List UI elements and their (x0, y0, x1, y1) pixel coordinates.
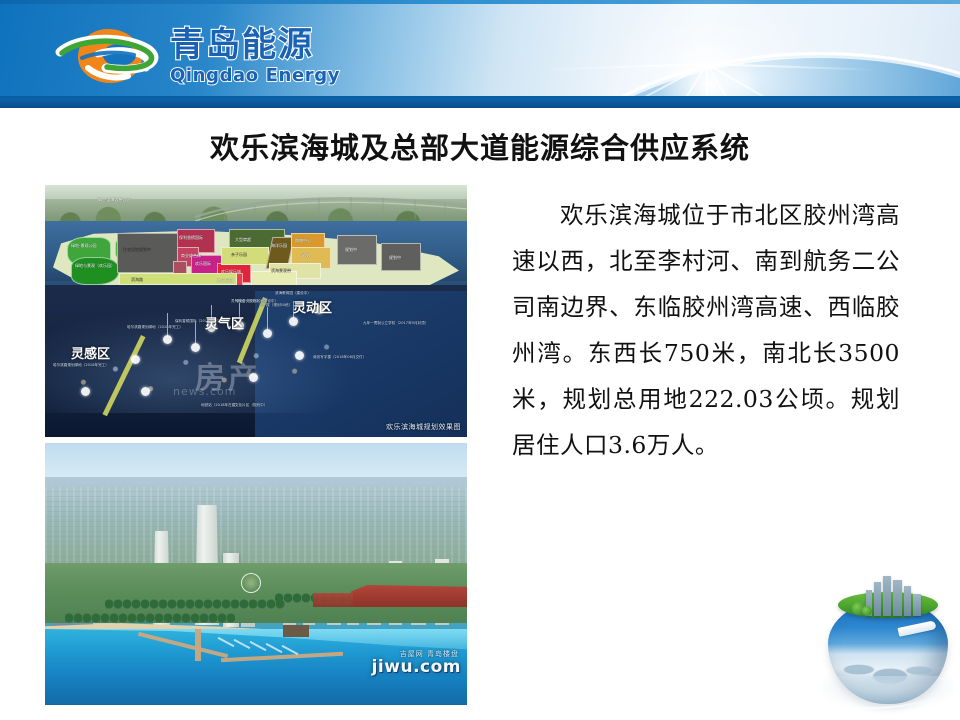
page-title: 欢乐滨海城及总部大道能源综合供应系统 (60, 125, 900, 167)
map-callout-line-2 (195, 321, 196, 345)
presentation-slide: 青岛能源 Qingdao Energy 欢乐滨海城及总部大道能源综合供应系统 (0, 0, 960, 720)
globe-tree-2 (862, 606, 872, 616)
map-callout-text-9: 文化片区（规划中） (235, 403, 267, 407)
map-zone-label-8: 亲子乐园 (231, 252, 247, 257)
map-zone-label-0: 绿地-景观公园 (71, 243, 96, 248)
map-callout-dot-11[interactable] (81, 387, 90, 396)
map-callout-dot-12[interactable] (131, 355, 140, 364)
globe-building-6 (913, 594, 921, 616)
company-logo[interactable]: 青岛能源 Qingdao Energy (52, 20, 382, 92)
map-callout-text-10: 哈尔滨路规划绿地（2018年完工） (53, 363, 109, 367)
globe-building-4 (904, 586, 911, 616)
map-caption: 欢乐滨海城规划效果图 (386, 422, 461, 432)
map-zone-label-2: 绿地与景观（欢乐园） (75, 263, 115, 268)
qingdao-energy-e-logo-icon (52, 24, 164, 88)
map-zone-planned-b (381, 243, 421, 271)
map-zone-label-5: 大型商超 (235, 237, 251, 242)
map-zone-label-7: 商业综合体 (181, 253, 201, 258)
city-tree-row-3 (65, 613, 235, 623)
map-callout-text-4: 九年一贯制公立学校（2017年9月封顶） (363, 321, 428, 325)
city-dock-building (283, 625, 309, 637)
map-zone-planned-a (337, 235, 377, 265)
city-ferris-wheel (241, 573, 261, 593)
map-bridge-overlay (195, 191, 467, 225)
map-district-label-2: 灵动区 (293, 297, 332, 316)
globe-building-2 (883, 576, 891, 616)
city-tree-row-1 (105, 599, 285, 609)
map-callout-text-8: 地铁站（2018年在建） (201, 403, 239, 407)
city-red-roof-small (313, 593, 353, 607)
logo-chinese-name: 青岛能源 (170, 26, 385, 64)
map-callout-text-7: 亲子楼（规划50栋） (259, 303, 292, 307)
map-district-label-1: 灵气区 (205, 313, 244, 332)
globe-reflection (822, 676, 954, 710)
map-district-label-0: 灵感区 (71, 343, 110, 362)
globe-building-1 (874, 582, 881, 616)
logo-english-name: Qingdao Energy (170, 66, 385, 86)
city-pier-jetty (195, 629, 201, 661)
figure-coastal-cityscape[interactable]: 吉屋网 青岛楼盘 jiwu.com (45, 443, 467, 705)
map-zone-label-14: 欢乐乐园 (217, 278, 233, 283)
figure-planning-map[interactable]: 绿地-景观公园 绿地与景观（欢乐园） 住宅用地规划中 保利香槟国际 大型商超 滨… (45, 185, 467, 437)
map-zone-label-9: 购物中心 (295, 238, 311, 243)
map-zone-label-16: 滨海景观带 (271, 268, 291, 273)
map-callout-text-5: 商务写字楼（2018年06月交付） (313, 355, 366, 359)
map-zone-label-4: 保利香槟国际 (179, 235, 203, 240)
map-callout-text-3: 滨海教育园（建设中） (275, 291, 311, 295)
map-callout-text-0: 哈尔滨路规划绿地（2018年完工） (127, 325, 183, 329)
city-watermark: jiwu.com (372, 657, 461, 677)
map-zone-residential (117, 233, 179, 273)
eco-city-globe-graphic (822, 578, 954, 710)
map-zone-label-6: 滨海路 (131, 277, 143, 282)
map-zone-green-secondary (71, 257, 119, 285)
logo-wordmark: 青岛能源 Qingdao Energy (170, 26, 385, 88)
map-callout-dot-8[interactable] (295, 351, 304, 360)
city-red-roof-complex (351, 585, 467, 607)
map-callout-dot-10[interactable] (141, 387, 150, 396)
map-zone-label-13: 欢乐娱乐城 (221, 269, 241, 274)
body-paragraph: 欢乐滨海城位于市北区胶州湾高速以西，北至李村河、南到航务二公司南边界、东临胶州湾… (512, 192, 900, 468)
map-zone-label-15b: 规划中 (389, 255, 401, 260)
map-watermark-sub: news.com (173, 385, 236, 398)
map-zone-label-10: 海洋乐园 (271, 243, 287, 248)
map-zone-label-12: 学校 (301, 253, 309, 258)
map-zone-label-11: 欢乐国际 (195, 261, 211, 266)
map-zone-label-15: 规划中 (345, 247, 357, 252)
map-callout-line-5 (267, 307, 268, 331)
globe-building-3 (893, 580, 902, 616)
map-zone-label-3: 住宅用地规划中 (123, 247, 151, 252)
slide-header-banner: 青岛能源 Qingdao Energy (0, 0, 960, 108)
map-zone-label-1b: 绿地-滨海游憩公园 (97, 197, 130, 202)
header-bottom-rule (0, 99, 960, 108)
